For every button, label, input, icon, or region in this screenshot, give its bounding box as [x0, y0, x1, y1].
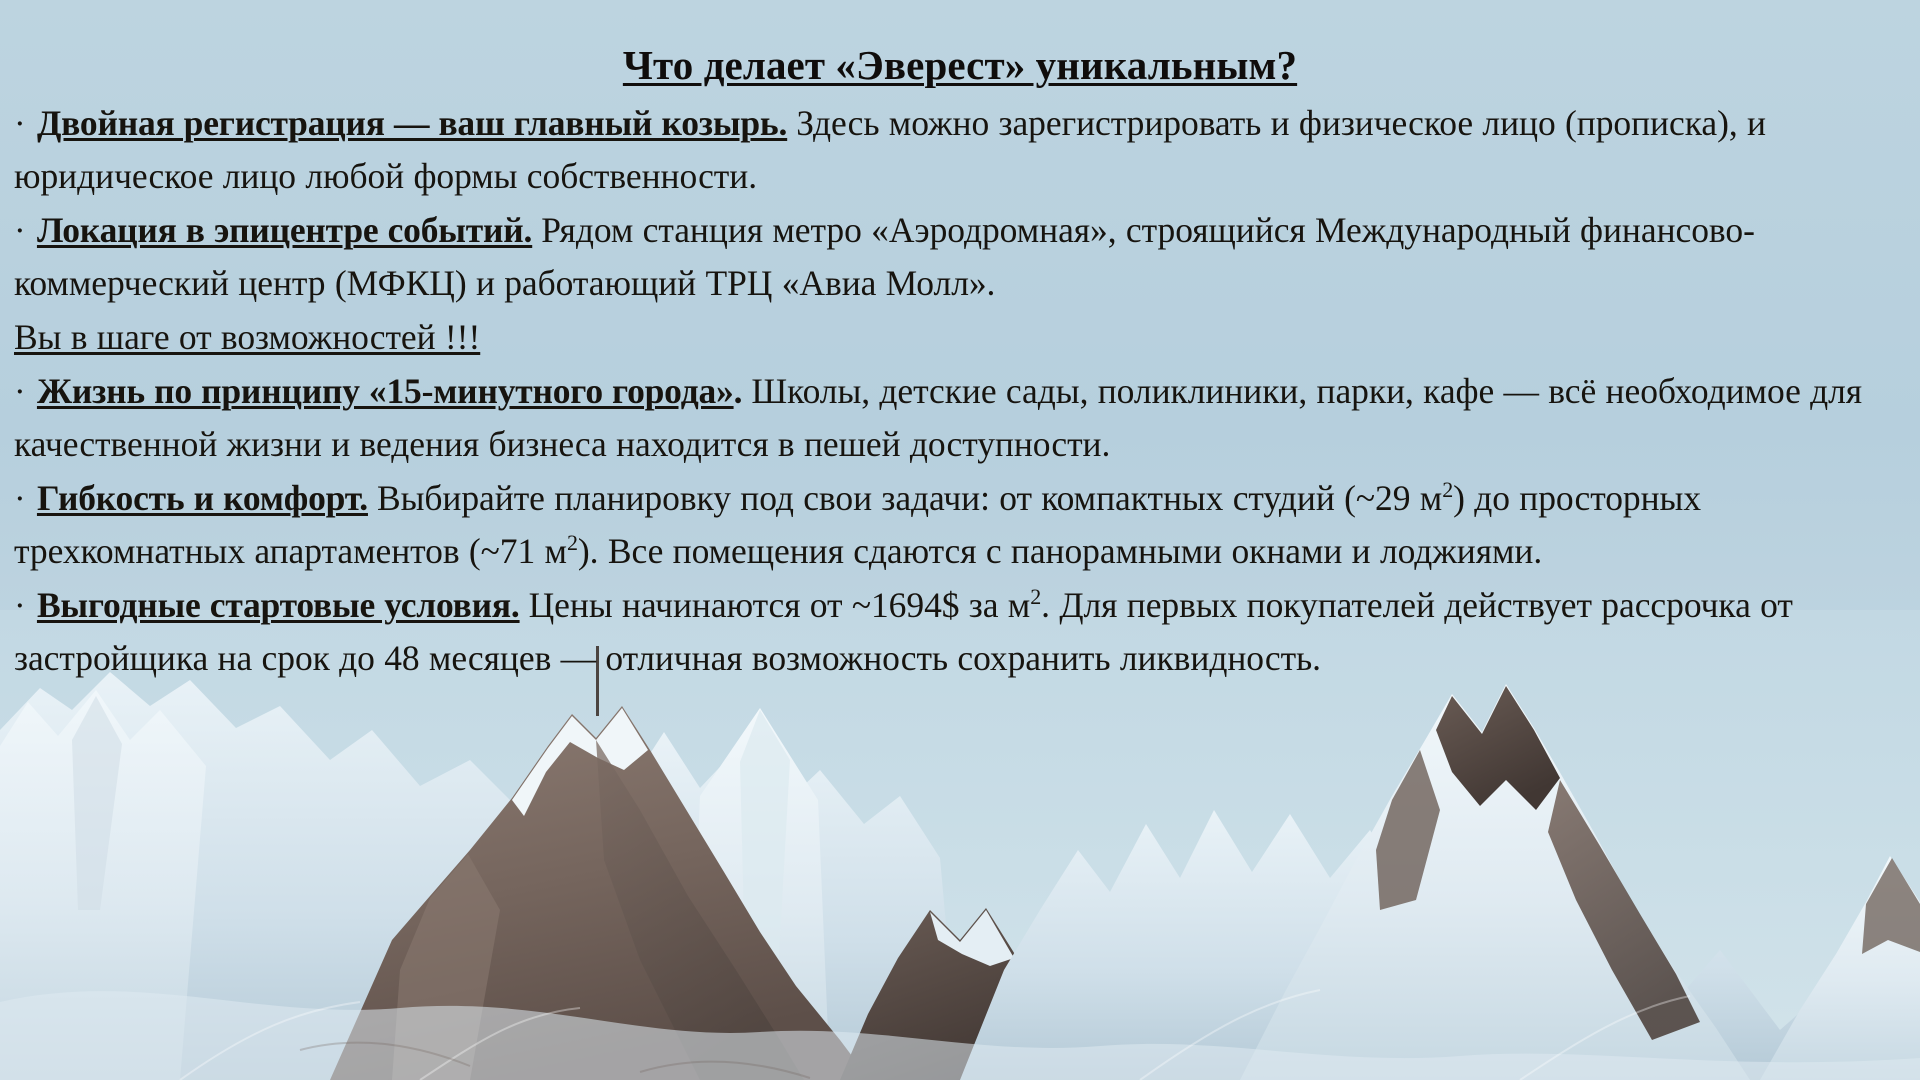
bullet-lead-4: Жизнь по принципу «15-минутного города»	[37, 371, 734, 411]
slide-text-content: Что делает «Эверест» уникальным? · Двойн…	[0, 0, 1920, 686]
bullet-lead-5: Гибкость и комфорт.	[37, 478, 368, 518]
bullet-item-location: · Локация в эпицентре событий.Рядом стан…	[14, 204, 1898, 310]
bullet-item-starting-conditions: · Выгодные стартовые условия.Цены начина…	[14, 579, 1898, 685]
bullet-body-5a: Выбирайте планировку под свои задачи: от…	[377, 478, 1442, 518]
square-meter-superscript-71: 2	[567, 530, 578, 555]
callout-opportunity: Вы в шаге от возможностей !!!	[14, 311, 1898, 364]
square-meter-superscript-29: 2	[1442, 477, 1453, 502]
presentation-slide: Что делает «Эверест» уникальным? · Двойн…	[0, 0, 1920, 1080]
bullet-lead-1: Двойная регистрация — ваш главный козырь…	[37, 103, 787, 143]
bullet-lead-2: Локация в эпицентре событий.	[37, 210, 532, 250]
bullet-glyph-6: ·	[14, 586, 28, 625]
bullet-body-6a: Цены начинаются от ~1694$ за м	[529, 585, 1031, 625]
page-title-text: Что делает «Эверест» уникальным?	[623, 42, 1297, 88]
bullet-glyph-1: ·	[14, 104, 28, 143]
bullet-item-15-minute-city: · Жизнь по принципу «15-минутного города…	[14, 365, 1898, 471]
square-meter-superscript-price: 2	[1030, 584, 1041, 609]
bullet-item-dual-registration: · Двойная регистрация — ваш главный козы…	[14, 97, 1898, 203]
page-title: Что делает «Эверест» уникальным?	[0, 44, 1920, 87]
bullet-glyph-2: ·	[14, 211, 28, 250]
bullet-body-5c: ). Все помещения сдаются с панорамными о…	[578, 531, 1542, 571]
bullet-list: · Двойная регистрация — ваш главный козы…	[0, 97, 1920, 685]
bullet-item-flexibility-comfort: · Гибкость и комфорт.Выбирайте планировк…	[14, 472, 1898, 578]
bullet-lead-6: Выгодные стартовые условия.	[37, 585, 520, 625]
bullet-lead-4-period: .	[734, 371, 743, 411]
callout-opportunity-text: Вы в шаге от возможностей !!!	[14, 317, 480, 357]
bullet-glyph-4: ·	[14, 372, 28, 411]
bullet-glyph-5: ·	[14, 479, 28, 518]
